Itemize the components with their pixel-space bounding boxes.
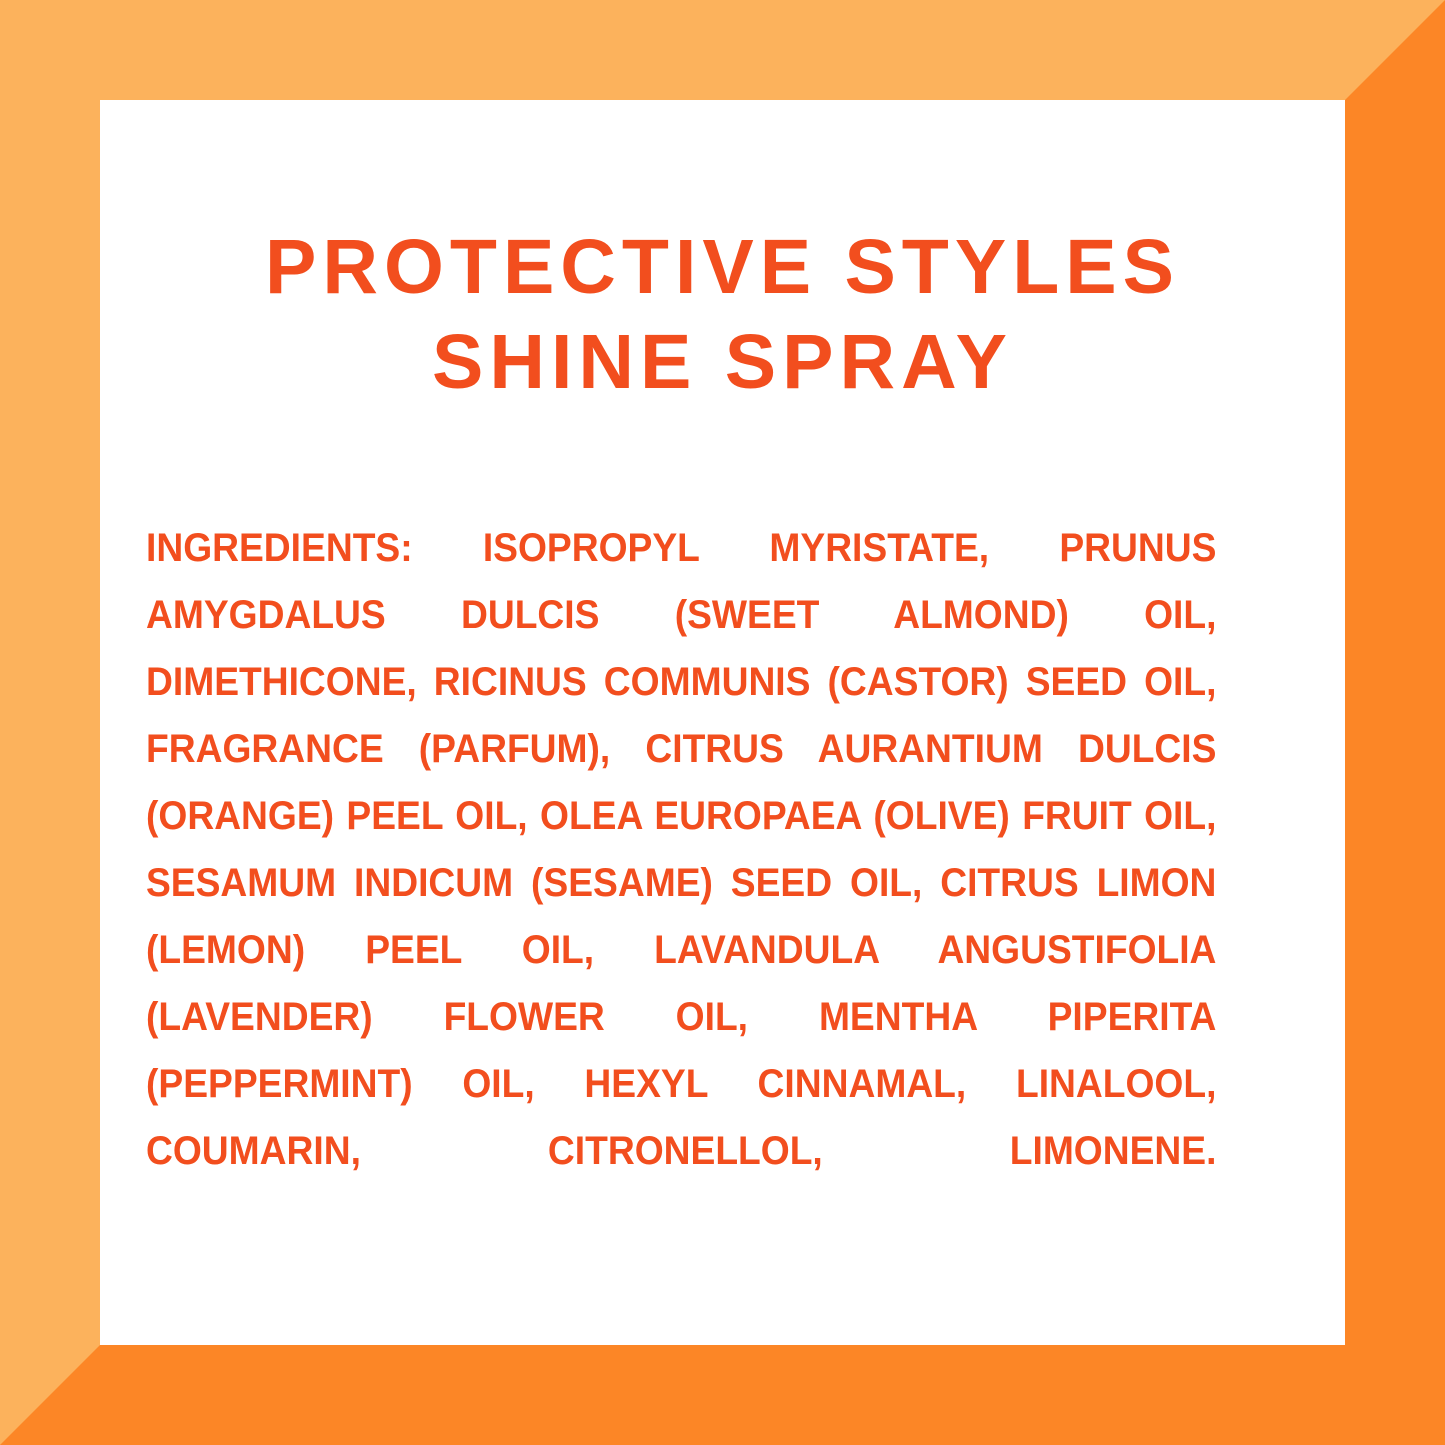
ingredients-paragraph: INGREDIENTS: ISOPROPYL MYRISTATE, PRUNUS… — [146, 515, 1216, 1252]
label-content-panel: PROTECTIVE STYLES SHINE SPRAY INGREDIENT… — [100, 100, 1345, 1345]
product-label-card: PROTECTIVE STYLES SHINE SPRAY INGREDIENT… — [0, 0, 1445, 1445]
product-title: PROTECTIVE STYLES SHINE SPRAY — [100, 220, 1345, 411]
